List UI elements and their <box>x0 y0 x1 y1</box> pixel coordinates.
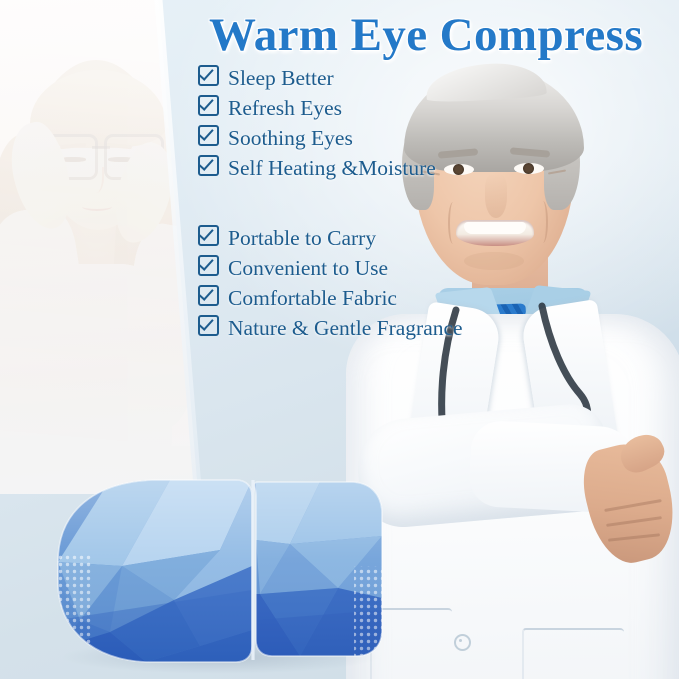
feature-group-primary: Sleep Better Refresh Eyes Soothing Eyes … <box>198 64 498 184</box>
left-photo-panel <box>0 0 222 494</box>
feature-label: Self Heating &Moisture <box>228 156 436 181</box>
feature-item: Self Heating &Moisture <box>198 154 498 184</box>
checkbox-checked-icon <box>198 95 219 116</box>
checkbox-checked-icon <box>198 255 219 276</box>
checkbox-checked-icon <box>198 285 219 306</box>
feature-label: Refresh Eyes <box>228 96 342 121</box>
doctor-coat-pocket-right <box>522 628 624 679</box>
feature-item: Convenient to Use <box>198 254 498 284</box>
feature-label: Nature & Gentle Fragrance <box>228 316 463 341</box>
warm-eye-mask-product <box>50 470 395 670</box>
checkbox-checked-icon <box>198 155 219 176</box>
feature-label: Comfortable Fabric <box>228 286 397 311</box>
feature-item: Soothing Eyes <box>198 124 498 154</box>
feature-item: Sleep Better <box>198 64 498 94</box>
checkbox-checked-icon <box>198 65 219 86</box>
feature-item: Comfortable Fabric <box>198 284 498 314</box>
eye-mask-right-pad <box>250 470 395 670</box>
feature-label: Portable to Carry <box>228 226 376 251</box>
doctor-iris-right <box>523 163 534 174</box>
checkbox-checked-icon <box>198 225 219 246</box>
feature-item: Refresh Eyes <box>198 94 498 124</box>
feature-group-secondary: Portable to Carry Convenient to Use Comf… <box>198 224 498 344</box>
product-poster: Warm Eye Compress Sleep Better Refresh E… <box>0 0 679 679</box>
checkbox-checked-icon <box>198 125 219 146</box>
feature-list: Sleep Better Refresh Eyes Soothing Eyes … <box>198 64 498 344</box>
feature-label: Soothing Eyes <box>228 126 353 151</box>
feature-label: Convenient to Use <box>228 256 388 281</box>
doctor-laugh-line-right <box>538 201 548 243</box>
panel-overlay-wash <box>0 0 222 494</box>
checkbox-checked-icon <box>198 315 219 336</box>
page-title: Warm Eye Compress <box>186 10 666 61</box>
feature-label: Sleep Better <box>228 66 334 91</box>
feature-item: Portable to Carry <box>198 224 498 254</box>
doctor-eye-right <box>514 163 544 174</box>
doctor-coat-button <box>454 634 471 651</box>
feature-item: Nature & Gentle Fragrance <box>198 314 498 344</box>
